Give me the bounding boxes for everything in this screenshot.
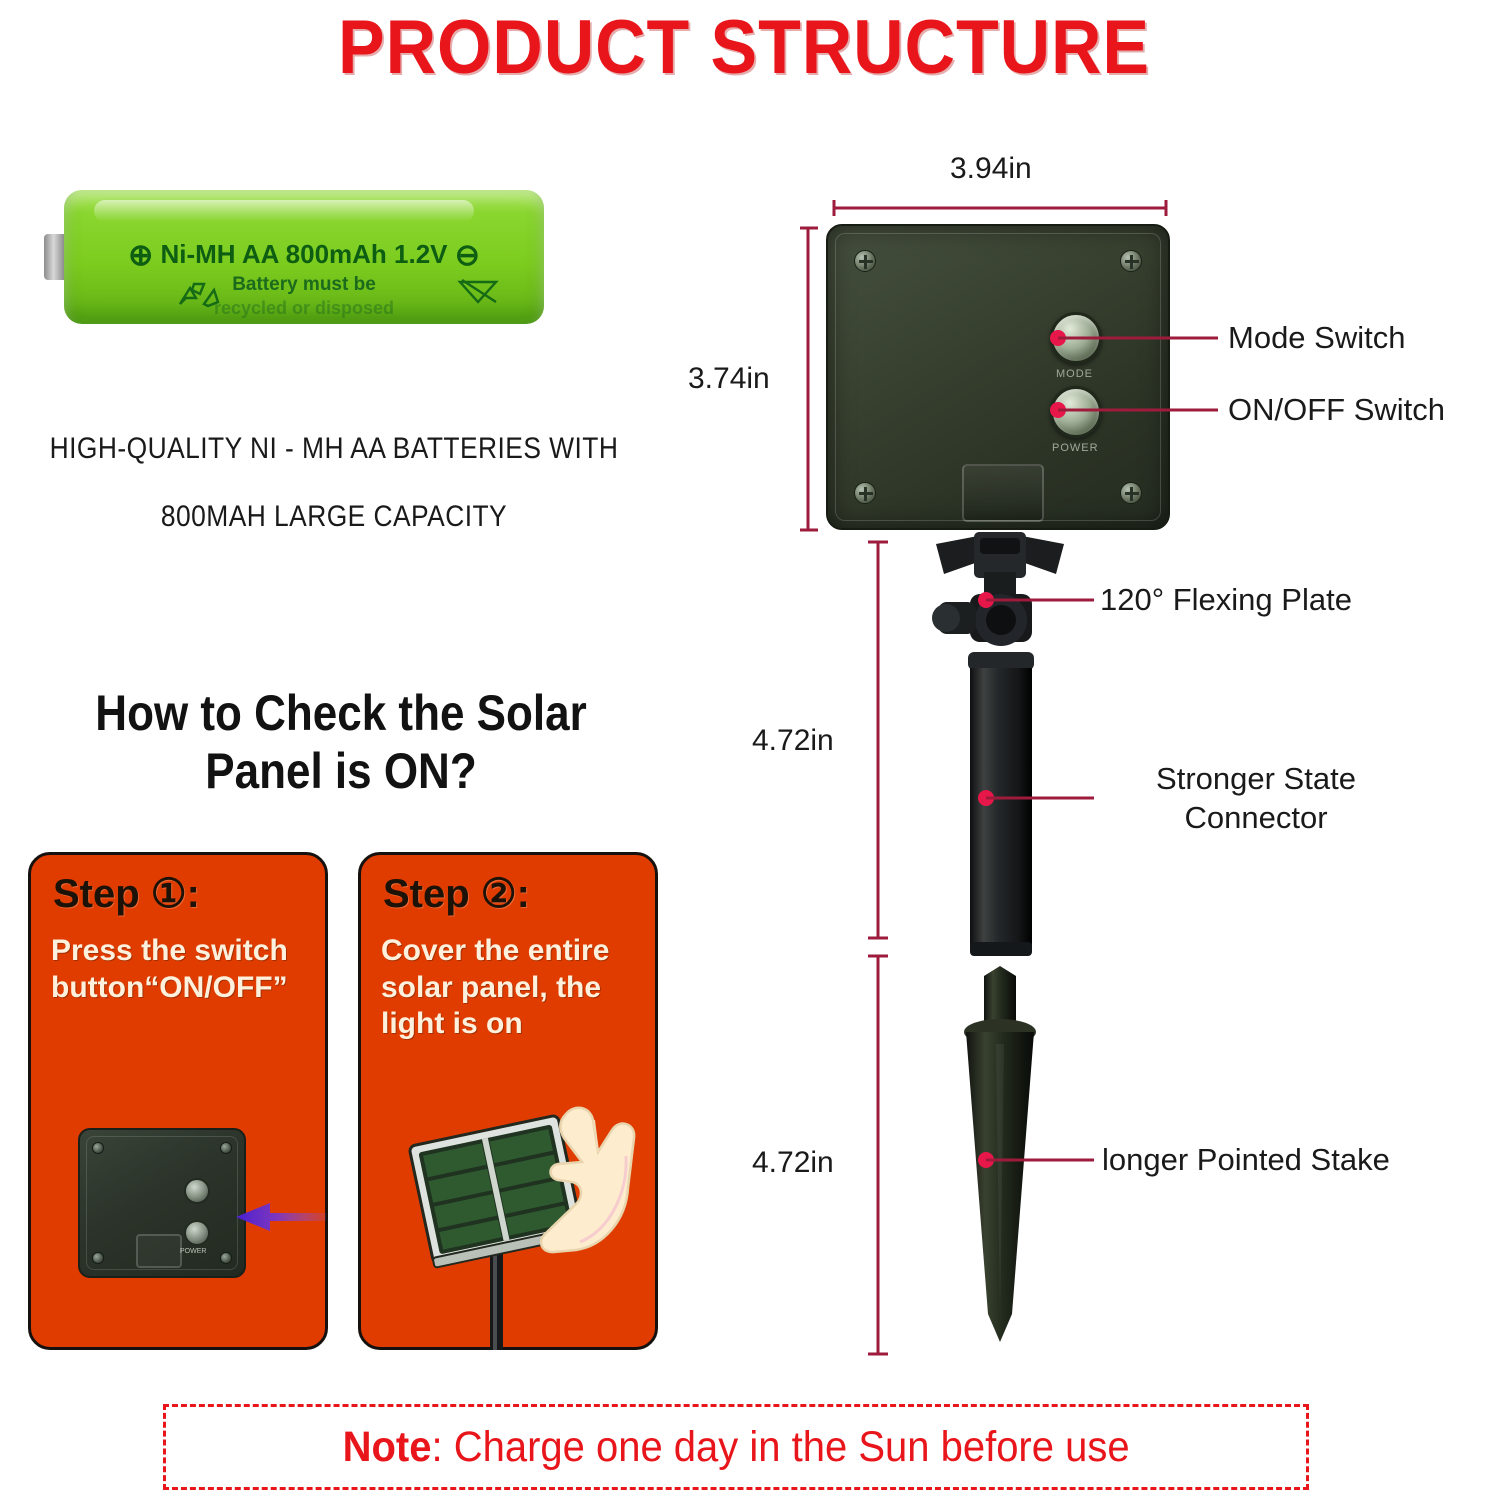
leader-line-mode-switch bbox=[1050, 330, 1220, 346]
dimension-label-panel-width: 3.94in bbox=[950, 152, 1032, 186]
minus-icon: ⊖ bbox=[455, 239, 480, 272]
mini-solar-panel-back: POWER bbox=[78, 1128, 246, 1278]
leader-line-state-connector bbox=[978, 790, 1096, 806]
callout-state-connector-line1: Stronger State bbox=[1106, 760, 1406, 799]
pole-and-stake-illustration bbox=[900, 528, 1100, 1368]
dimension-label-stake-length: 4.72in bbox=[752, 1146, 834, 1180]
dimension-line-pole-length bbox=[866, 538, 890, 942]
solar-panel-back-housing: MODE POWER bbox=[826, 224, 1170, 530]
battery-body: ⊕ Ni-MH AA 800mAh 1.2V ⊖ Battery must be… bbox=[64, 190, 544, 324]
battery-illustration: ⊕ Ni-MH AA 800mAh 1.2V ⊖ Battery must be… bbox=[44, 186, 544, 332]
screw-top-left bbox=[854, 250, 876, 272]
mini-mode-button bbox=[184, 1178, 210, 1204]
onoff-switch-label: POWER bbox=[1052, 442, 1099, 454]
leader-line-onoff-switch bbox=[1050, 402, 1220, 418]
hand-over-solar-panel-illustration bbox=[398, 1096, 668, 1350]
howto-heading-line2: Panel is ON? bbox=[37, 742, 644, 800]
note-text: Note: Charge one day in the Sun before u… bbox=[343, 1423, 1130, 1472]
callout-onoff-switch: ON/OFF Switch bbox=[1228, 392, 1445, 428]
screw-bottom-right bbox=[1120, 482, 1142, 504]
battery-caption-line2: 800MAH LARGE CAPACITY bbox=[44, 500, 625, 534]
step-2-heading: Step ②: bbox=[383, 871, 530, 917]
dimension-line-stake-length bbox=[866, 952, 890, 1358]
crossed-out-bin-icon bbox=[456, 276, 500, 310]
battery-spec-text: Ni-MH AA 800mAh 1.2V bbox=[160, 239, 447, 269]
mini-screw-top-left bbox=[92, 1142, 104, 1154]
plus-icon: ⊕ bbox=[128, 239, 153, 272]
mini-screw-top-right bbox=[220, 1142, 232, 1154]
mode-switch-label: MODE bbox=[1056, 368, 1093, 380]
callout-flexing-plate: 120° Flexing Plate bbox=[1100, 582, 1352, 618]
cable-cover bbox=[962, 464, 1044, 522]
battery-gloss bbox=[94, 200, 474, 222]
dimension-label-panel-height: 3.74in bbox=[688, 362, 770, 396]
screw-bottom-left bbox=[854, 482, 876, 504]
mini-power-button bbox=[184, 1220, 210, 1246]
step-1-body: Press the switch button“ON/OFF” bbox=[51, 933, 321, 1006]
mini-power-label: POWER bbox=[180, 1248, 206, 1255]
callout-state-connector-line2: Connector bbox=[1106, 799, 1406, 838]
step-1-heading: Step ①: bbox=[53, 871, 200, 917]
callout-mode-switch: Mode Switch bbox=[1228, 320, 1405, 356]
purple-pointer-arrow bbox=[230, 1200, 326, 1234]
dimension-line-panel-height bbox=[796, 224, 820, 534]
screw-top-right bbox=[1120, 250, 1142, 272]
mini-screw-bottom-right bbox=[220, 1252, 232, 1264]
leader-line-flexing-plate bbox=[978, 592, 1096, 608]
mini-screw-bottom-left bbox=[92, 1252, 104, 1264]
dimension-line-panel-width bbox=[830, 196, 1170, 218]
mini-cable-cover bbox=[136, 1234, 182, 1268]
dimension-label-pole-length: 4.72in bbox=[752, 724, 834, 758]
recycle-icon bbox=[174, 276, 220, 310]
callout-pointed-stake: longer Pointed Stake bbox=[1102, 1142, 1390, 1178]
note-bold-label: Note bbox=[343, 1423, 432, 1471]
battery-spec-line: ⊕ Ni-MH AA 800mAh 1.2V ⊖ bbox=[64, 238, 544, 273]
battery-caption-line1: HIGH-QUALITY NI - MH AA BATTERIES WITH bbox=[44, 432, 625, 466]
leader-line-pointed-stake bbox=[978, 1152, 1096, 1168]
callout-state-connector: Stronger State Connector bbox=[1106, 760, 1406, 838]
howto-heading-line1: How to Check the Solar bbox=[37, 684, 644, 742]
page-title: PRODUCT STRUCTURE bbox=[60, 4, 1429, 91]
note-rest-label: : Charge one day in the Sun before use bbox=[431, 1423, 1129, 1471]
step-2-body: Cover the entire solar panel, the light … bbox=[381, 933, 651, 1043]
note-banner: Note: Charge one day in the Sun before u… bbox=[163, 1404, 1309, 1490]
